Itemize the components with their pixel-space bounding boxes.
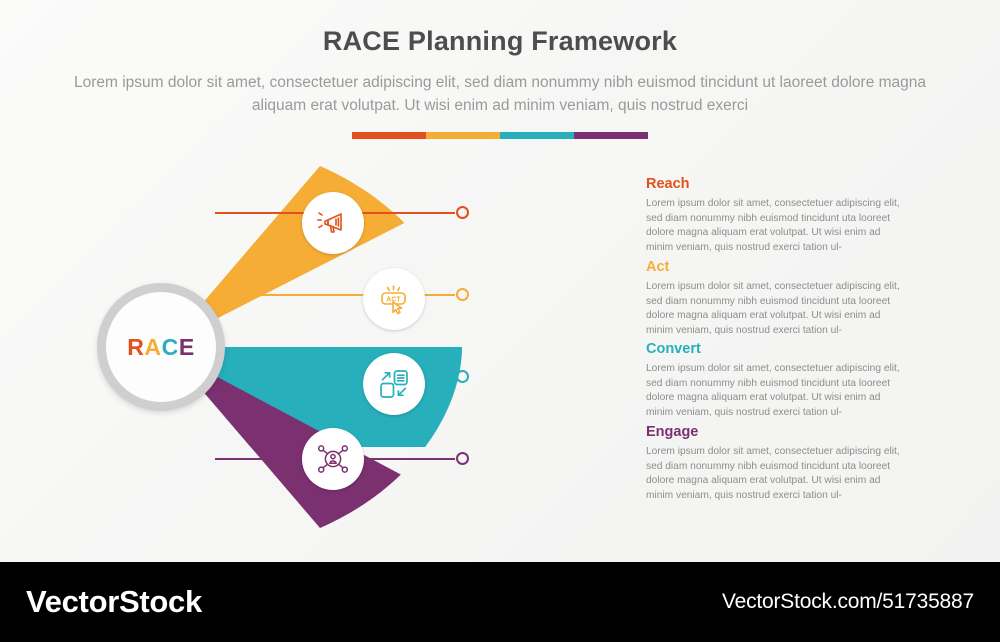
page-subtitle: Lorem ipsum dolor sit amet, consectetuer… — [70, 71, 930, 117]
page-title: RACE Planning Framework — [0, 26, 1000, 57]
info-body-engage: Lorem ipsum dolor sit amet, consectetuer… — [646, 445, 908, 503]
info-block-act: Act Lorem ipsum dolor sit amet, consecte… — [646, 259, 908, 338]
info-block-engage: Engage Lorem ipsum dolor sit amet, conse… — [646, 424, 908, 503]
info-title-engage: Engage — [646, 424, 908, 440]
connector-act — [255, 294, 455, 296]
hub-letter-e: E — [179, 334, 195, 360]
hub-label: RACE — [127, 334, 195, 361]
megaphone-icon — [316, 206, 350, 240]
icon-bubble-engage[interactable] — [302, 428, 364, 490]
color-rule-segment-engage — [574, 132, 648, 139]
color-rule-segment-act — [426, 132, 500, 139]
convert-exchange-icon — [377, 367, 411, 401]
info-title-convert: Convert — [646, 341, 908, 357]
info-title-reach: Reach — [646, 176, 908, 192]
connector-endpoint-engage[interactable] — [456, 452, 469, 465]
connector-convert — [255, 376, 455, 378]
info-title-act: Act — [646, 259, 908, 275]
info-body-convert: Lorem ipsum dolor sit amet, consectetuer… — [646, 362, 908, 420]
hub-letter-a: A — [144, 334, 161, 360]
infographic-canvas: RACE Planning Framework Lorem ipsum dolo… — [0, 0, 1000, 642]
connector-endpoint-reach[interactable] — [456, 206, 469, 219]
hub-letter-r: R — [127, 334, 144, 360]
header: RACE Planning Framework Lorem ipsum dolo… — [0, 0, 1000, 117]
center-hub: RACE — [97, 283, 225, 411]
icon-bubble-convert[interactable] — [363, 353, 425, 415]
info-body-act: Lorem ipsum dolor sit amet, consectetuer… — [646, 280, 908, 338]
race-fan-diagram: RACE ACT — [0, 150, 660, 530]
icon-bubble-act[interactable]: ACT — [363, 268, 425, 330]
act-click-icon: ACT — [376, 282, 412, 316]
icon-bubble-reach[interactable] — [302, 192, 364, 254]
info-block-reach: Reach Lorem ipsum dolor sit amet, consec… — [646, 176, 908, 255]
network-user-icon — [316, 442, 350, 476]
info-block-convert: Convert Lorem ipsum dolor sit amet, cons… — [646, 341, 908, 420]
color-rule-divider — [352, 132, 648, 139]
color-rule-segment-reach — [352, 132, 426, 139]
hub-letter-c: C — [162, 334, 179, 360]
connector-endpoint-act[interactable] — [456, 288, 469, 301]
info-body-reach: Lorem ipsum dolor sit amet, consectetuer… — [646, 197, 908, 255]
brand-name: VectorStock — [26, 584, 202, 620]
connector-endpoint-convert[interactable] — [456, 370, 469, 383]
brand-url: VectorStock.com/51735887 — [722, 590, 974, 614]
color-rule-segment-convert — [500, 132, 574, 139]
watermark-footer: VectorStock VectorStock.com/51735887 — [0, 562, 1000, 642]
